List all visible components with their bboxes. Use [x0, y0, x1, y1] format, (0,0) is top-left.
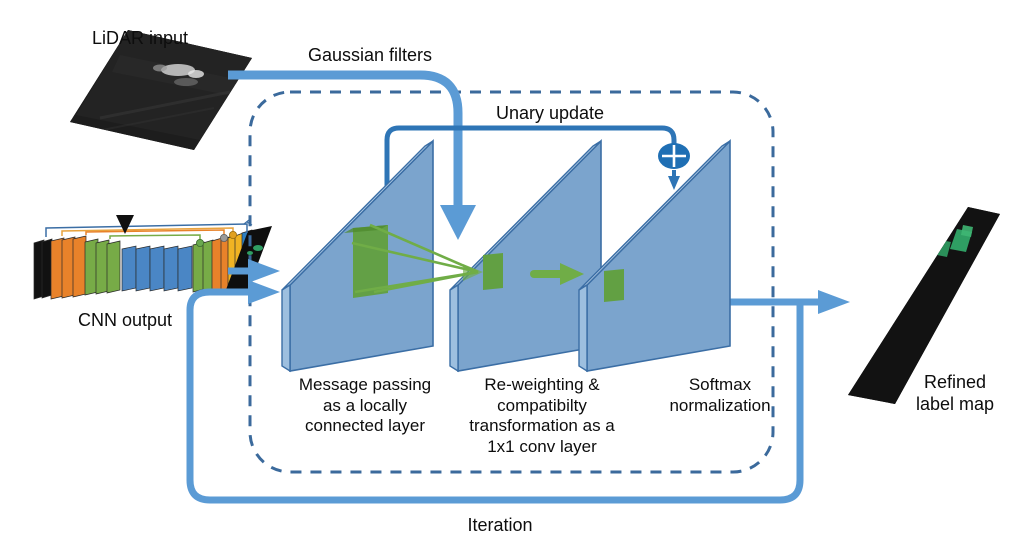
lidar-input-label: LiDAR input [60, 28, 220, 50]
diagram-canvas: LiDAR input CNN output Gaussian filters … [0, 0, 1022, 540]
iteration-loop-arrowhead [248, 280, 280, 304]
diagram-graphics [0, 0, 1022, 540]
cnn-output-label: CNN output [45, 310, 205, 332]
unary-update-label: Unary update [460, 103, 640, 125]
softmax-label: Softmax normalization [640, 375, 800, 416]
cnn-to-module-arrowhead [248, 259, 280, 283]
cnn-output-network [34, 215, 272, 299]
iteration-label: Iteration [420, 515, 580, 537]
gaussian-filters-arrowhead [440, 205, 476, 240]
sum-to-slab-arrowhead [668, 176, 680, 190]
gaussian-filters-label: Gaussian filters [280, 45, 460, 67]
message-passing-label: Message passing as a locally connected l… [280, 375, 450, 437]
output-arrowhead [818, 290, 850, 314]
reweighting-label: Re-weighting & compatibilty transformati… [452, 375, 632, 458]
refined-label-map-label: Refined label map [890, 372, 1020, 416]
sum-operator-node [658, 143, 690, 169]
